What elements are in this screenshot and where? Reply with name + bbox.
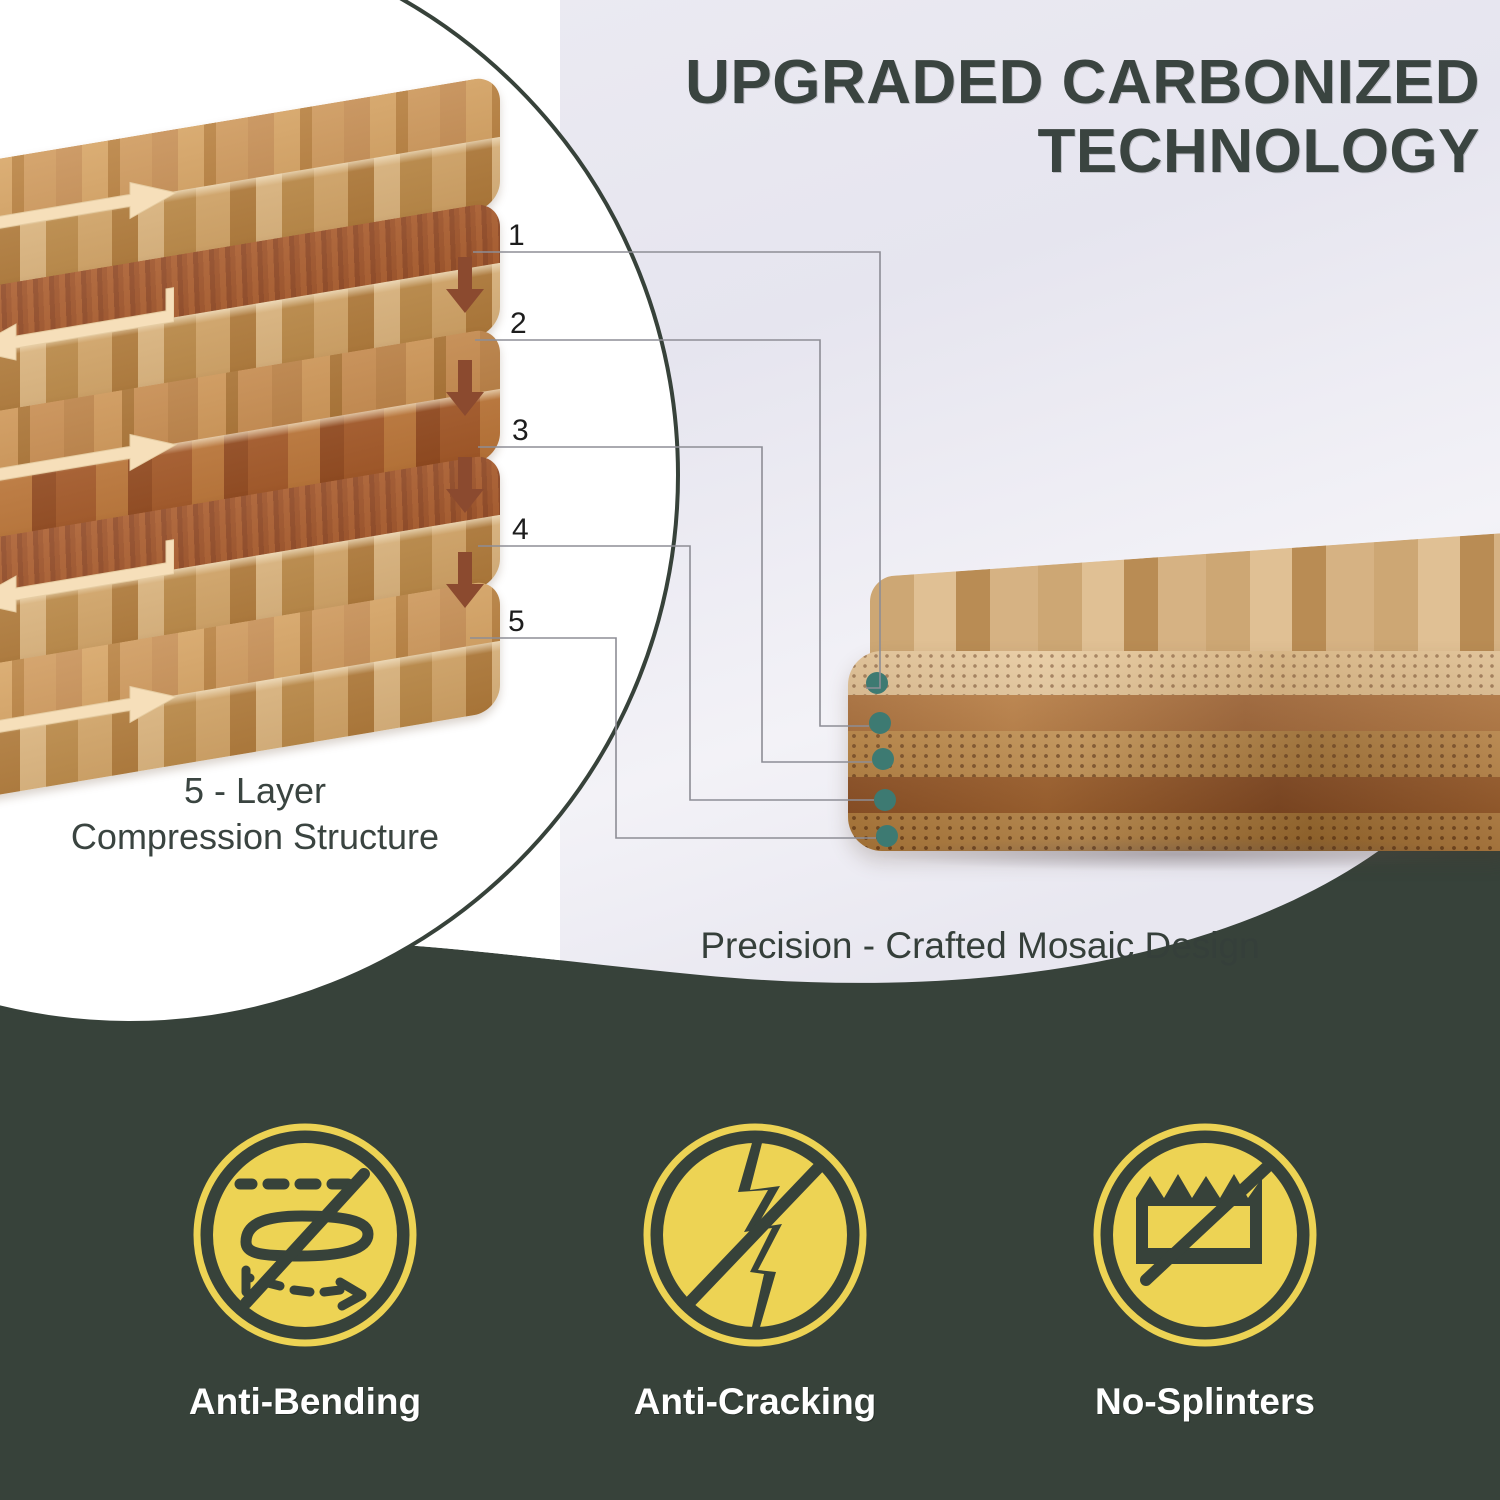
left-caption-line-1: 5 - Layer <box>20 768 490 814</box>
leader-path-1 <box>473 252 880 688</box>
no-splinters-icon <box>1090 1120 1320 1350</box>
infographic-canvas: 1 2 3 4 5 UPGRADED CARBONIZED TECHNOLOGY… <box>0 0 1500 1500</box>
layer-number-5: 5 <box>508 605 525 639</box>
no-cracking-icon <box>640 1120 870 1350</box>
feature-row: Anti-Bending Anti-Cracking No-Splinter <box>0 1120 1500 1460</box>
right-caption: Precision - Crafted Mosaic Design <box>560 925 1400 967</box>
feature-no-splinters: No-Splinters <box>995 1120 1415 1423</box>
leader-path-2 <box>475 340 869 726</box>
leader-path-3 <box>478 447 872 762</box>
layer-number-3: 3 <box>512 414 529 448</box>
page-title: UPGRADED CARBONIZED TECHNOLOGY <box>600 48 1480 187</box>
title-line-2: TECHNOLOGY <box>600 117 1480 186</box>
feature-label: No-Splinters <box>995 1381 1415 1423</box>
leader-path-5 <box>470 638 876 838</box>
title-line-1: UPGRADED CARBONIZED <box>685 48 1480 117</box>
layer-number-2: 2 <box>510 307 527 341</box>
feature-label: Anti-Bending <box>95 1381 515 1423</box>
left-caption: 5 - Layer Compression Structure <box>20 768 490 860</box>
layer-number-4: 4 <box>512 513 529 547</box>
feature-label: Anti-Cracking <box>545 1381 965 1423</box>
feature-anti-cracking: Anti-Cracking <box>545 1120 965 1423</box>
feature-anti-bending: Anti-Bending <box>95 1120 515 1423</box>
no-bending-icon <box>190 1120 420 1350</box>
layer-number-1: 1 <box>508 219 525 253</box>
left-caption-line-2: Compression Structure <box>20 814 490 860</box>
